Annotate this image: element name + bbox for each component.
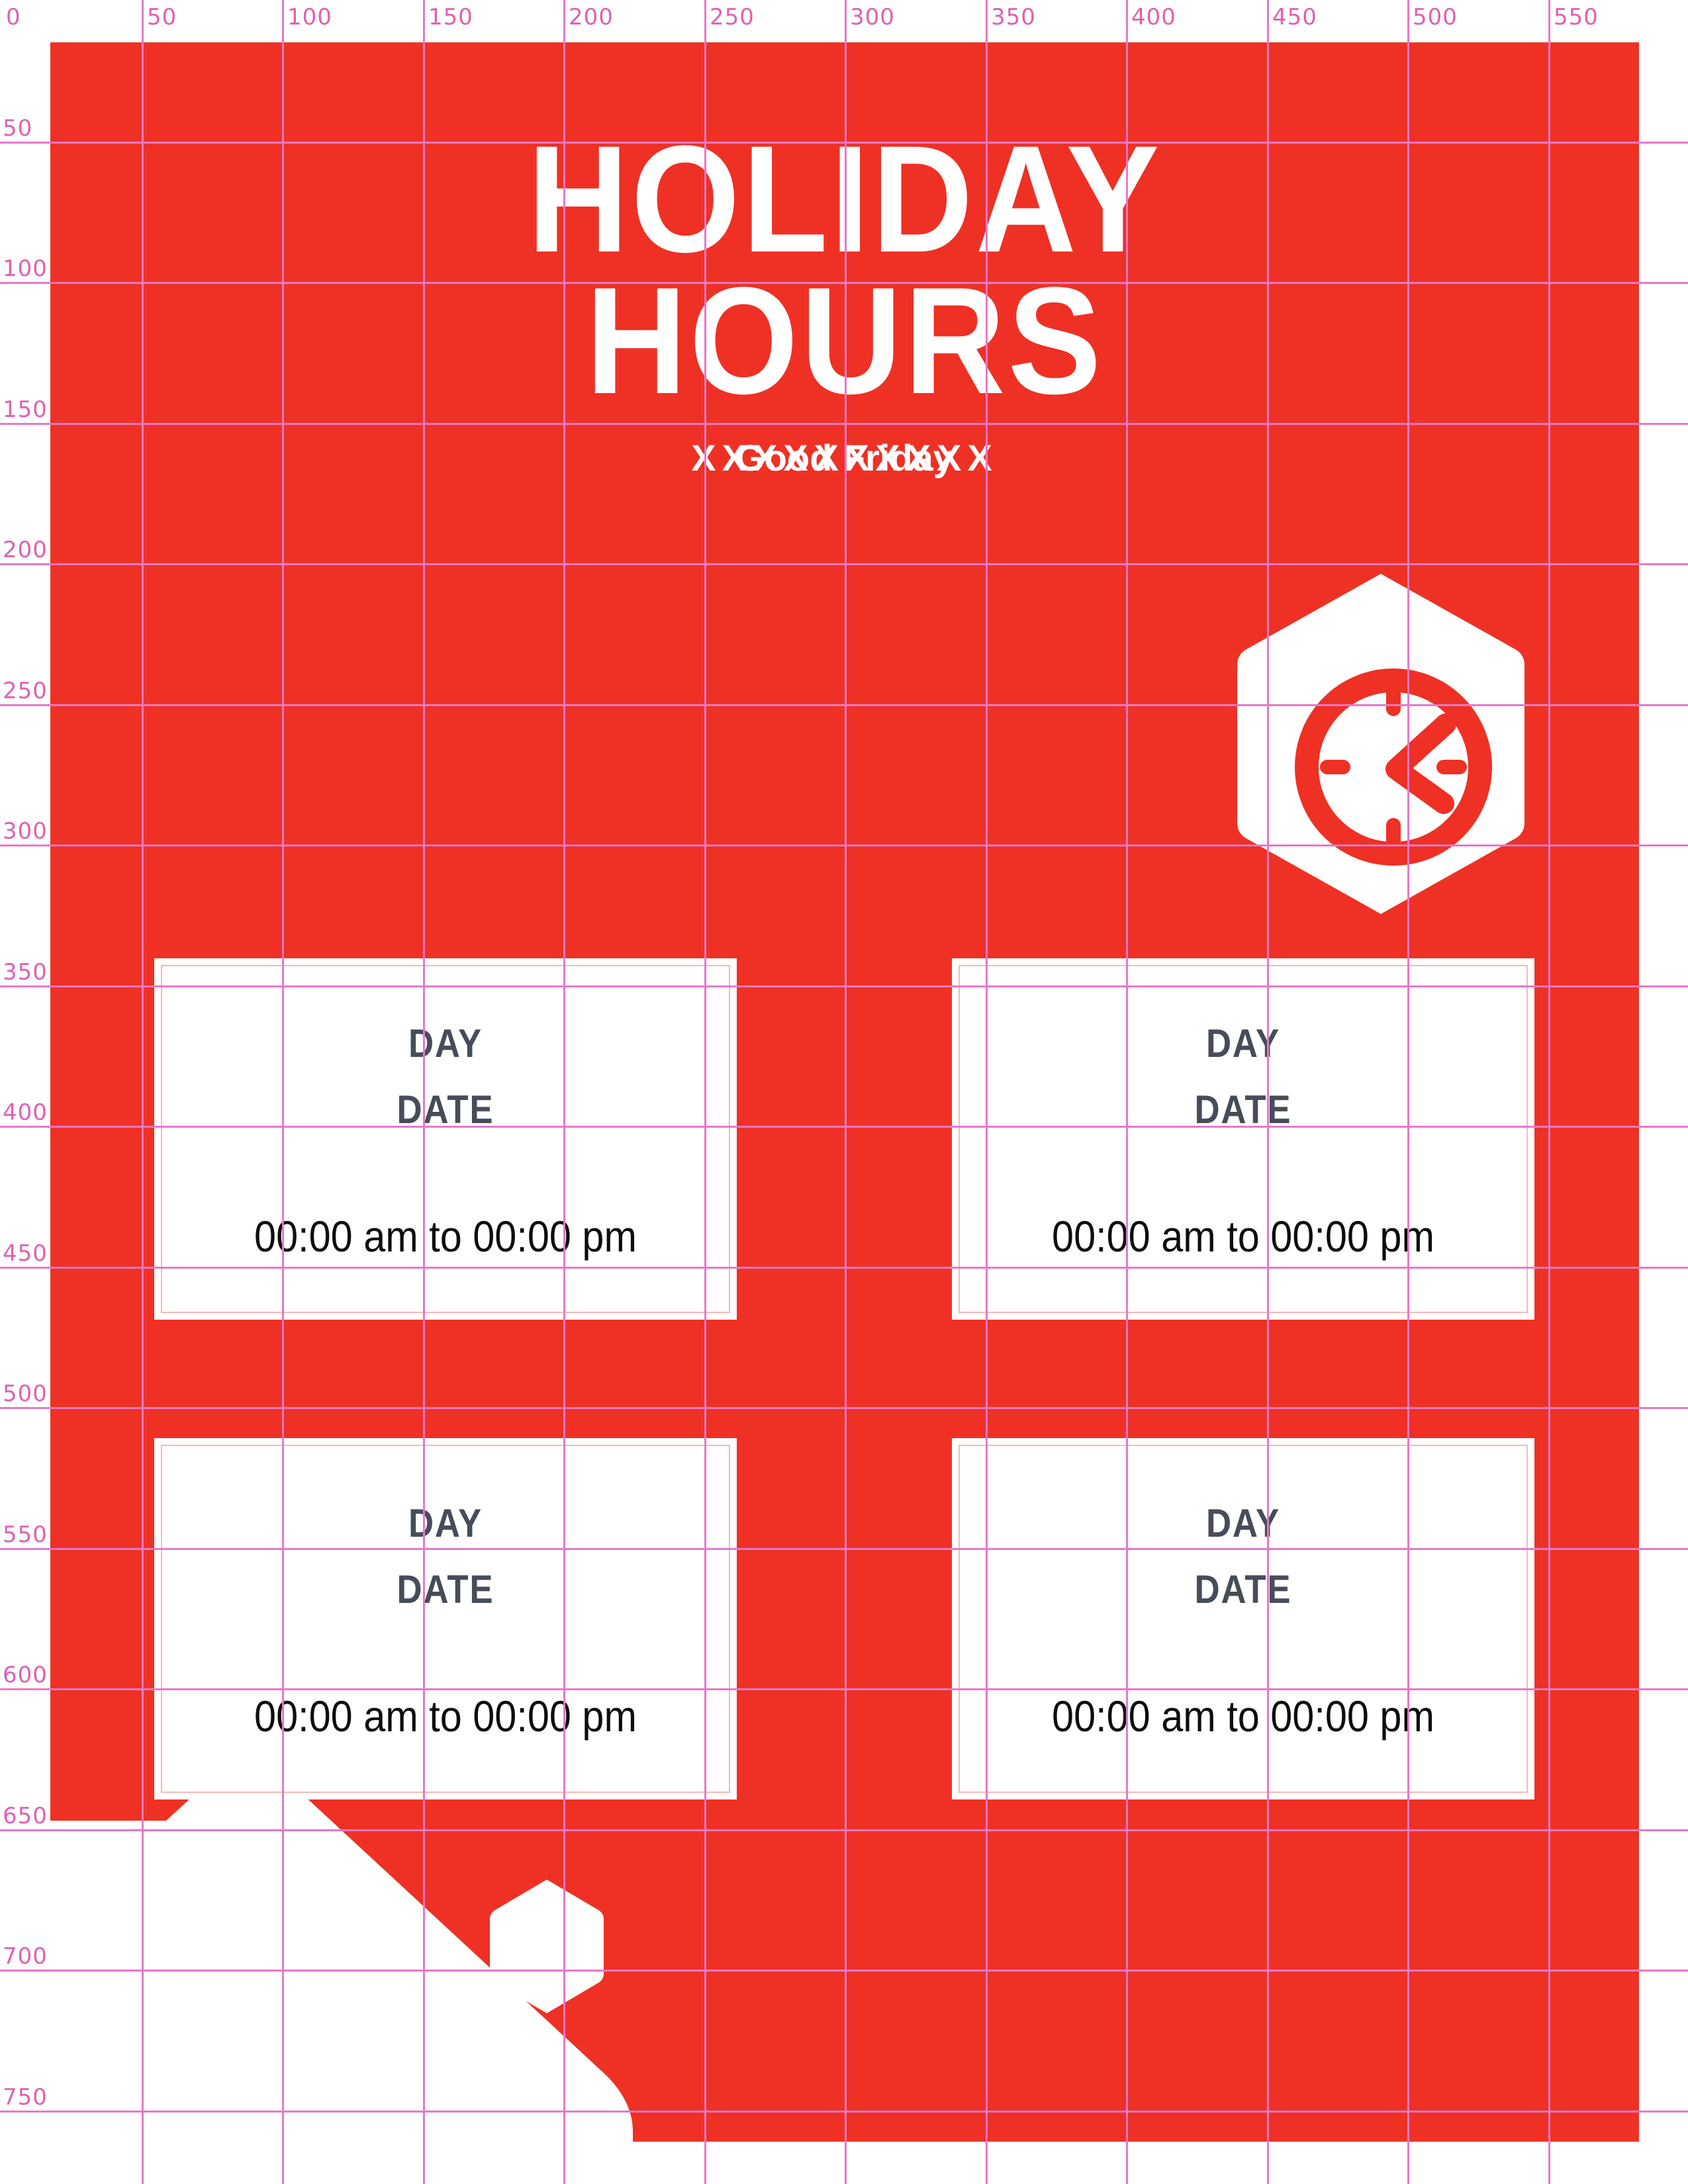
ruler-label-y: 350 <box>3 959 48 985</box>
clock-hexagon-icon <box>1225 569 1536 919</box>
bottom-diagonal-decoration <box>50 1771 778 2142</box>
ruler-label-y: 250 <box>3 678 48 704</box>
card-hours-value: 00:00 am to 00:00 pm <box>191 1211 700 1261</box>
hours-card[interactable]: DAY DATE 00:00 am to 00:00 pm <box>952 958 1534 1320</box>
subtitle-holiday-name: Good Friday <box>50 437 1639 479</box>
card-day-label: DAY <box>994 1500 1492 1546</box>
bottom-hexagon-decoration <box>487 1877 606 2016</box>
ruler-label-y: 450 <box>3 1240 48 1267</box>
card-day-label: DAY <box>196 1021 694 1066</box>
card-day-label: DAY <box>196 1500 694 1546</box>
hours-card[interactable]: DAY DATE 00:00 am to 00:00 pm <box>952 1438 1534 1799</box>
card-inner-border: DAY DATE 00:00 am to 00:00 pm <box>161 1445 730 1793</box>
ruler-label-x: 200 <box>569 4 614 30</box>
card-date-label: DATE <box>196 1087 694 1132</box>
card-inner-border: DAY DATE 00:00 am to 00:00 pm <box>959 1445 1528 1793</box>
ruler-label-x: 550 <box>1554 4 1599 30</box>
ruler-label-x: 50 <box>147 4 177 30</box>
hours-card[interactable]: DAY DATE 00:00 am to 00:00 pm <box>154 958 737 1320</box>
ruler-label-x: 300 <box>850 4 895 30</box>
ruler-label-y: 150 <box>3 396 48 423</box>
ruler-label-y: 500 <box>3 1381 48 1407</box>
card-hours-value: 00:00 am to 00:00 pm <box>988 1211 1498 1261</box>
card-day-label: DAY <box>994 1021 1492 1066</box>
ruler-label-y: 300 <box>3 818 48 844</box>
title-line-hours: HOURS <box>114 270 1575 412</box>
hours-card[interactable]: DAY DATE 00:00 am to 00:00 pm <box>154 1438 737 1799</box>
ruler-label-y: 700 <box>3 1943 48 1970</box>
ruler-label-y: 400 <box>3 1099 48 1126</box>
ruler-label-x: 250 <box>710 4 755 30</box>
ruler-label-y: 50 <box>3 115 32 142</box>
card-inner-border: DAY DATE 00:00 am to 00:00 pm <box>959 965 1528 1313</box>
ruler-label-x: 400 <box>1131 4 1176 30</box>
ruler-label-x: 350 <box>991 4 1036 30</box>
ruler-label-y: 750 <box>3 2084 48 2111</box>
card-hours-value: 00:00 am to 00:00 pm <box>191 1691 700 1741</box>
ruler-label-x: 100 <box>287 4 332 30</box>
card-inner-border: DAY DATE 00:00 am to 00:00 pm <box>161 965 730 1313</box>
card-date-label: DATE <box>196 1567 694 1612</box>
poster-title-block: HOLIDAY HOURS XXXXXXXXXX Good Friday <box>50 128 1639 490</box>
ruler-label-x: 150 <box>428 4 473 30</box>
subtitle-stack: XXXXXXXXXX Good Friday <box>50 437 1639 490</box>
ruler-label-y: 100 <box>3 255 48 282</box>
ruler-label-y: 650 <box>3 1803 48 1829</box>
card-hours-value: 00:00 am to 00:00 pm <box>988 1691 1498 1741</box>
card-date-label: DATE <box>994 1567 1492 1612</box>
ruler-label-y: 600 <box>3 1662 48 1688</box>
ruler-label-x: 500 <box>1413 4 1458 30</box>
title-line-holiday: HOLIDAY <box>114 128 1575 270</box>
ruler-label-x: 0 <box>6 4 21 30</box>
ruler-label-y: 550 <box>3 1522 48 1548</box>
ruler-label-y: 200 <box>3 537 48 563</box>
ruler-label-x: 450 <box>1272 4 1317 30</box>
holiday-hours-poster: HOLIDAY HOURS XXXXXXXXXX Good Friday DAY… <box>50 42 1639 2142</box>
card-date-label: DATE <box>994 1087 1492 1132</box>
